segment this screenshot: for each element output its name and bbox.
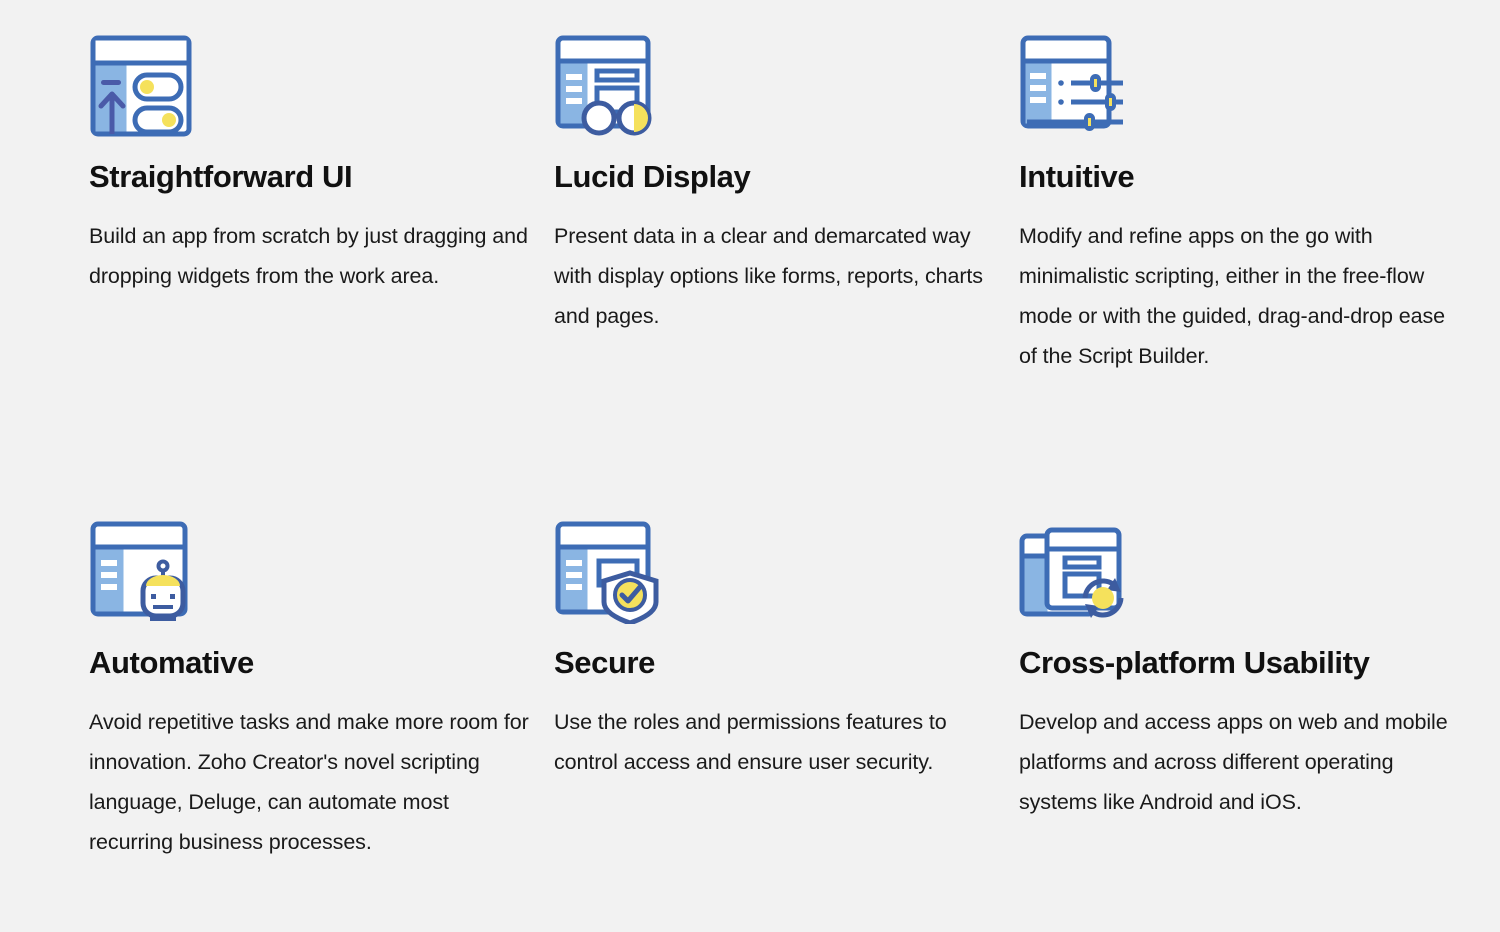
feature-title: Automative [89,646,534,680]
feature-description: Present data in a clear and demarcated w… [554,216,999,336]
feature-description: Develop and access apps on web and mobil… [1019,702,1464,822]
feature-title: Intuitive [1019,160,1464,194]
feature-description: Modify and refine apps on the go with mi… [1019,216,1464,376]
windows-sync-icon [1017,516,1127,624]
feature-title: Secure [554,646,999,680]
feature-description: Build an app from scratch by just draggi… [89,216,534,296]
window-shield-check-icon [552,516,662,624]
feature-card-secure: Secure Use the roles and permissions fea… [554,376,999,862]
feature-title: Straightforward UI [89,160,534,194]
feature-description: Use the roles and permissions features t… [554,702,999,782]
feature-description: Avoid repetitive tasks and make more roo… [89,702,534,862]
feature-card-lucid-display: Lucid Display Present data in a clear an… [554,30,999,376]
window-sliders-icon [1017,30,1127,138]
feature-card-cross-platform-usability: Cross-platform Usability Develop and acc… [1019,376,1464,862]
feature-title: Lucid Display [554,160,999,194]
feature-card-straightforward-ui: Straightforward UI Build an app from scr… [89,30,534,376]
feature-card-automative: Automative Avoid repetitive tasks and ma… [89,376,534,862]
window-toggles-upload-icon [87,30,197,138]
feature-title: Cross-platform Usability [1019,646,1464,680]
window-glasses-icon [552,30,662,138]
features-grid: Straightforward UI Build an app from scr… [0,0,1500,932]
window-robot-icon [87,516,197,624]
feature-card-intuitive: Intuitive Modify and refine apps on the … [1019,30,1464,376]
